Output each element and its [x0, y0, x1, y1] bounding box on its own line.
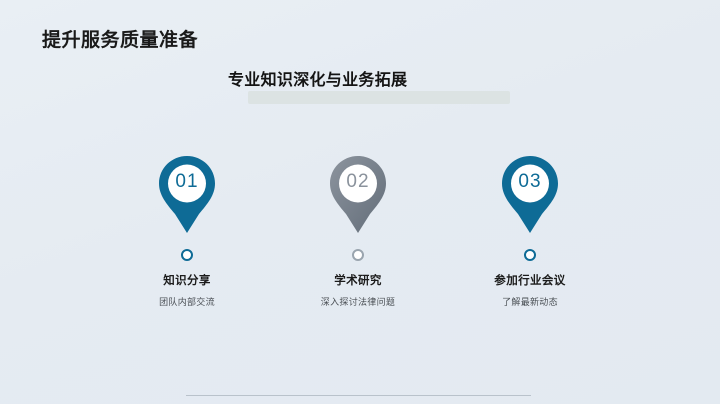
- timeline: 01 知识分享 团队内部交流 02: [0, 140, 720, 340]
- subtitle-text: 专业知识深化与业务拓展: [228, 66, 528, 90]
- step-heading: 参加行业会议: [445, 272, 615, 288]
- step-heading: 学术研究: [273, 272, 443, 288]
- map-pin-icon: 01: [156, 154, 218, 236]
- step-number: 03: [499, 171, 561, 193]
- map-pin-icon: 03: [499, 154, 561, 236]
- timeline-node[interactable]: [524, 249, 536, 261]
- step-number: 01: [156, 171, 218, 193]
- timeline-node[interactable]: [352, 249, 364, 261]
- timeline-step[interactable]: 02 学术研究 深入探讨法律问题: [273, 140, 443, 236]
- page-title: 提升服务质量准备: [42, 25, 198, 52]
- timeline-step[interactable]: 03 参加行业会议 了解最新动态: [445, 140, 615, 236]
- timeline-axis-line: [186, 395, 531, 396]
- step-number: 02: [327, 171, 389, 193]
- step-description: 团队内部交流: [102, 295, 272, 308]
- step-description: 深入探讨法律问题: [273, 295, 443, 308]
- slide-canvas: 提升服务质量准备 专业知识深化与业务拓展 01 知识分享 团队内部交流: [0, 0, 720, 404]
- map-pin-icon: 02: [327, 154, 389, 236]
- timeline-node[interactable]: [181, 249, 193, 261]
- timeline-step[interactable]: 01 知识分享 团队内部交流: [102, 140, 272, 236]
- step-heading: 知识分享: [102, 272, 272, 288]
- step-description: 了解最新动态: [445, 295, 615, 308]
- subtitle-underline-bar: [248, 91, 510, 104]
- subtitle-block: 专业知识深化与业务拓展: [228, 66, 528, 90]
